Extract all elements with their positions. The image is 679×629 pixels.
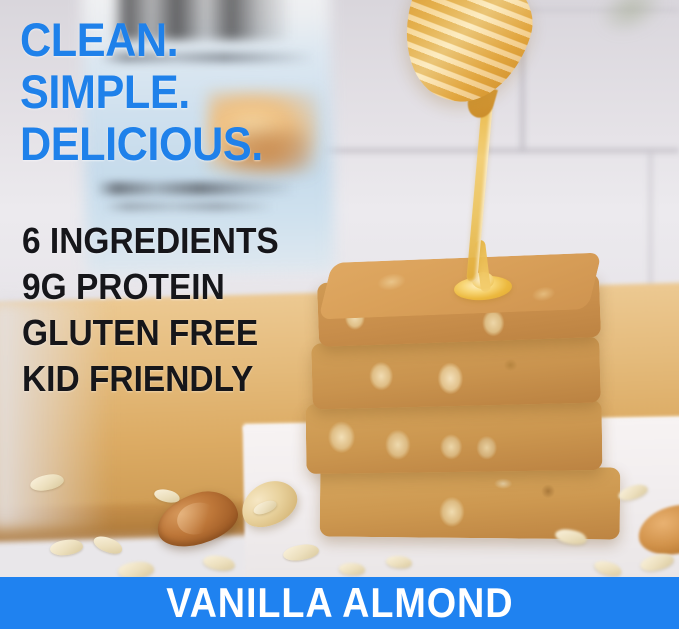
feature-gluten-free: GLUTEN FREE — [22, 310, 338, 356]
feature-ingredients: 6 INGREDIENTS — [22, 218, 338, 264]
tile-grout-line-horizontal — [300, 148, 679, 153]
oat-flake — [49, 538, 83, 556]
headline-line-clean: CLEAN. — [20, 14, 324, 66]
product-ad-image: CLEAN. SIMPLE. DELICIOUS. 6 INGREDIENTS … — [0, 0, 679, 629]
headline-line-simple: SIMPLE. — [20, 66, 324, 118]
blurred-plant-leaf — [590, 0, 673, 45]
flavor-name: VANILLA ALMOND — [166, 582, 513, 624]
headline-line-delicious: DELICIOUS. — [20, 118, 324, 170]
package-ingredient-subtext-blurred — [104, 202, 274, 211]
feature-kid-friendly: KID FRIENDLY — [22, 356, 338, 402]
flavor-banner: VANILLA ALMOND — [0, 577, 679, 629]
headline-block: CLEAN. SIMPLE. DELICIOUS. — [20, 14, 350, 170]
package-ingredient-text-blurred — [96, 182, 296, 195]
protein-bar-third — [306, 400, 603, 474]
oat-flake — [202, 553, 236, 572]
protein-bar-bottom — [320, 464, 621, 539]
feature-list: 6 INGREDIENTS 9G PROTEIN GLUTEN FREE KID… — [22, 218, 362, 402]
feature-protein: 9G PROTEIN — [22, 264, 338, 310]
